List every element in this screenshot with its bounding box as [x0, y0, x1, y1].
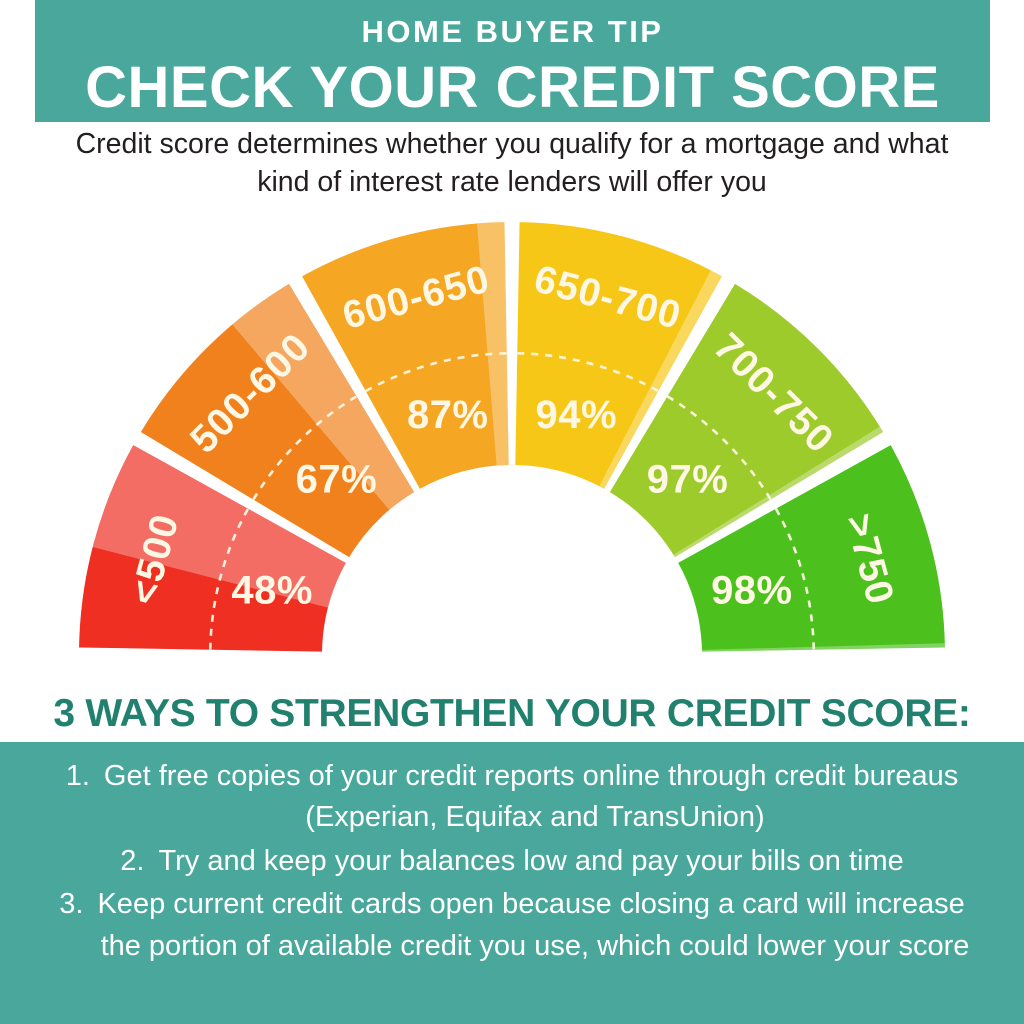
gauge-percent-label: 97%	[647, 457, 729, 501]
gauge-percent-label: 98%	[711, 569, 793, 613]
header-band: HOME BUYER TIP CHECK YOUR CREDIT SCORE	[35, 0, 990, 122]
subheadline-text: Credit score determines whether you qual…	[50, 126, 974, 202]
list-item: Keep current credit cards open because c…	[44, 884, 980, 967]
gauge-svg: <50048%500-60067%600-65087%650-70094%700…	[0, 200, 1024, 680]
list-item: Get free copies of your credit reports o…	[44, 756, 980, 839]
ways-section-title: 3 WAYS TO STRENGTHEN YOUR CREDIT SCORE:	[0, 694, 1024, 733]
page-title: CHECK YOUR CREDIT SCORE	[85, 59, 940, 117]
gauge-percent-label: 87%	[407, 393, 489, 437]
tips-panel: Get free copies of your credit reports o…	[0, 742, 1024, 1024]
header-kicker: HOME BUYER TIP	[362, 16, 664, 47]
gauge-percent-label: 48%	[231, 569, 313, 613]
gauge-percent-label: 67%	[296, 457, 378, 501]
list-item: Try and keep your balances low and pay y…	[44, 841, 980, 882]
credit-score-gauge-chart: <50048%500-60067%600-65087%650-70094%700…	[0, 200, 1024, 680]
gauge-percent-label: 94%	[535, 393, 617, 437]
tips-list: Get free copies of your credit reports o…	[44, 756, 980, 967]
